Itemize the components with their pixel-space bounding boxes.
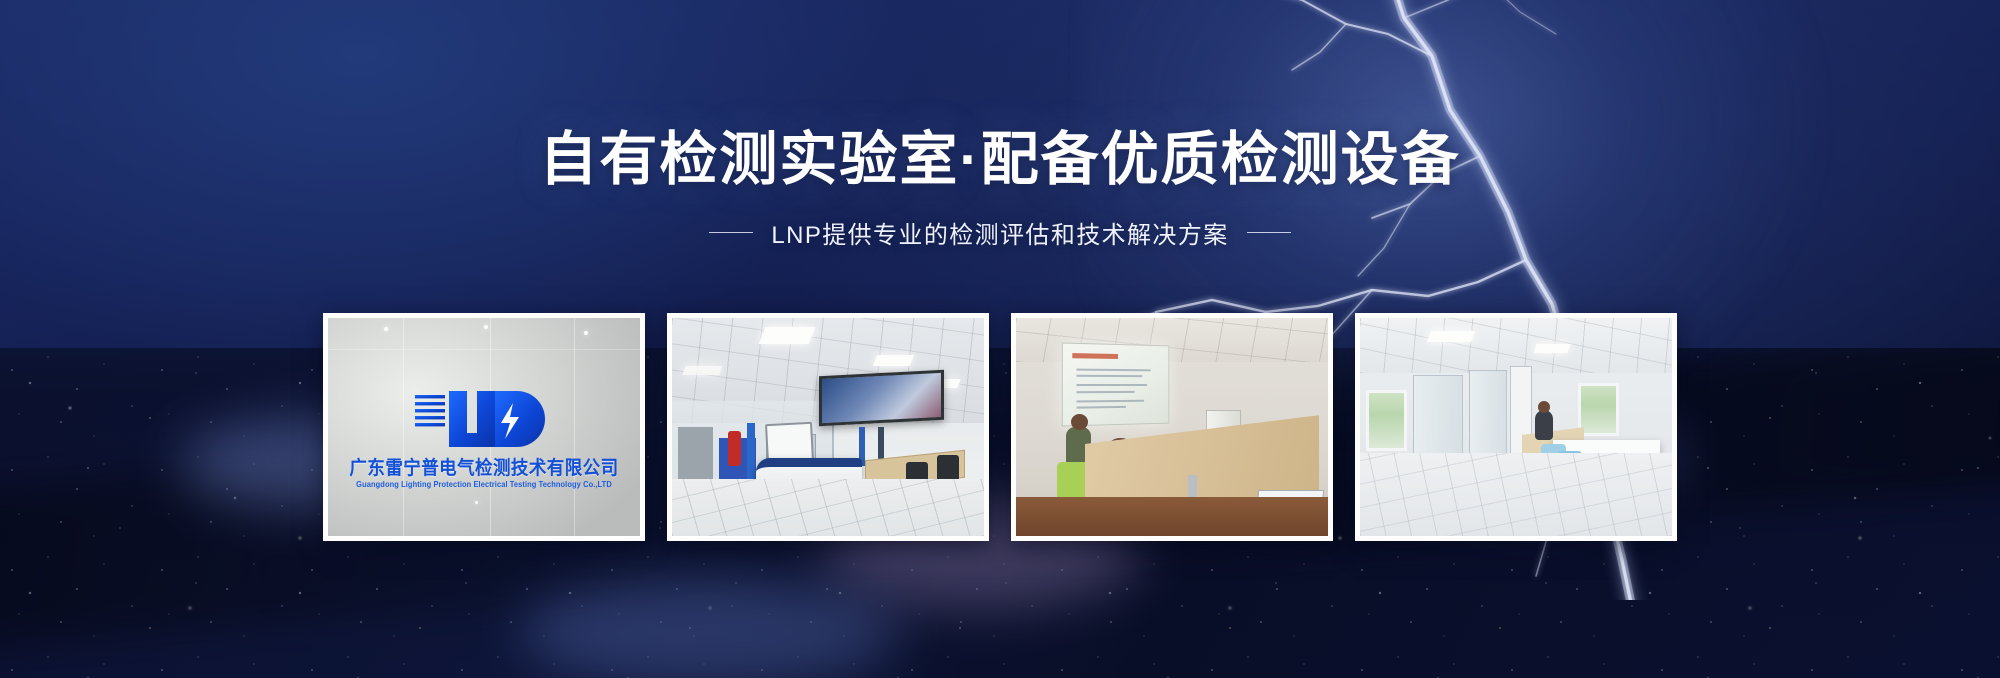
office-window — [1578, 383, 1619, 435]
slide-line — [1076, 400, 1144, 403]
wall-stud — [475, 501, 478, 504]
office-floor — [1360, 453, 1672, 536]
office-worker — [1535, 410, 1554, 441]
gallery-tile-meeting[interactable] — [1011, 313, 1333, 541]
divider-left-icon — [709, 232, 753, 233]
hero-text-block: 自有检测实验室·配备优质检测设备 LNP提供专业的检测评估和技术解决方案 — [0, 0, 2000, 250]
ceiling-light — [759, 327, 816, 344]
presenter-head — [1071, 414, 1088, 430]
hero-subtitle-row: LNP提供专业的检测评估和技术解决方案 — [0, 215, 2000, 250]
slide-line — [1076, 384, 1146, 386]
company-name-cn: 广东雷宁普电气检测技术有限公司 — [340, 453, 627, 480]
slide-line — [1076, 368, 1150, 371]
slide-heading — [1072, 354, 1118, 360]
photo-gallery: 广东雷宁普电气检测技术有限公司 Guangdong Lighting Prote… — [323, 313, 1677, 541]
meeting-floor — [1016, 497, 1328, 536]
office-ceiling — [1360, 318, 1672, 373]
wall-seam — [328, 349, 640, 350]
lab-floor — [672, 479, 984, 536]
gallery-tile-office[interactable] — [1355, 313, 1677, 541]
ceiling-light — [683, 366, 723, 375]
slide-line — [1076, 375, 1142, 377]
office-worker-head — [1538, 401, 1550, 413]
console-monitor — [765, 421, 814, 463]
photo-office-reception — [1360, 318, 1672, 536]
photo-company-sign: 广东雷宁普电气检测技术有限公司 Guangdong Lighting Prote… — [328, 318, 640, 536]
gallery-tile-company-sign[interactable]: 广东雷宁普电气检测技术有限公司 Guangdong Lighting Prote… — [323, 313, 645, 541]
wall-seam — [574, 318, 575, 536]
slide-line — [1076, 391, 1134, 393]
office-window — [1366, 390, 1407, 451]
city-glow-d — [520, 578, 900, 678]
slide-line — [1076, 406, 1126, 409]
wall-stud — [484, 325, 488, 329]
wall-mounted-display — [819, 369, 944, 426]
photo-training-meeting — [1016, 318, 1328, 536]
company-name-en: Guangdong Lighting Protection Electrical… — [347, 479, 622, 489]
hv-capacitor — [728, 431, 740, 466]
wall-stud — [384, 327, 388, 331]
hv-column — [747, 423, 755, 480]
ceiling-light — [1427, 331, 1475, 342]
hv-column — [878, 427, 884, 462]
divider-right-icon — [1247, 232, 1291, 233]
lnp-logo-icon — [409, 383, 559, 451]
ceiling-light — [1533, 344, 1570, 353]
hero-title: 自有检测实验室·配备优质检测设备 — [0, 128, 2000, 193]
wall-stud — [584, 331, 588, 335]
photo-testing-laboratory — [672, 318, 984, 536]
gallery-tile-laboratory[interactable] — [667, 313, 989, 541]
wall-seam — [403, 318, 404, 536]
ceiling-light — [873, 355, 915, 366]
hero-subtitle: LNP提供专业的检测评估和技术解决方案 — [771, 215, 1228, 250]
hero-banner: 自有检测实验室·配备优质检测设备 LNP提供专业的检测评估和技术解决方案 — [0, 0, 2000, 678]
